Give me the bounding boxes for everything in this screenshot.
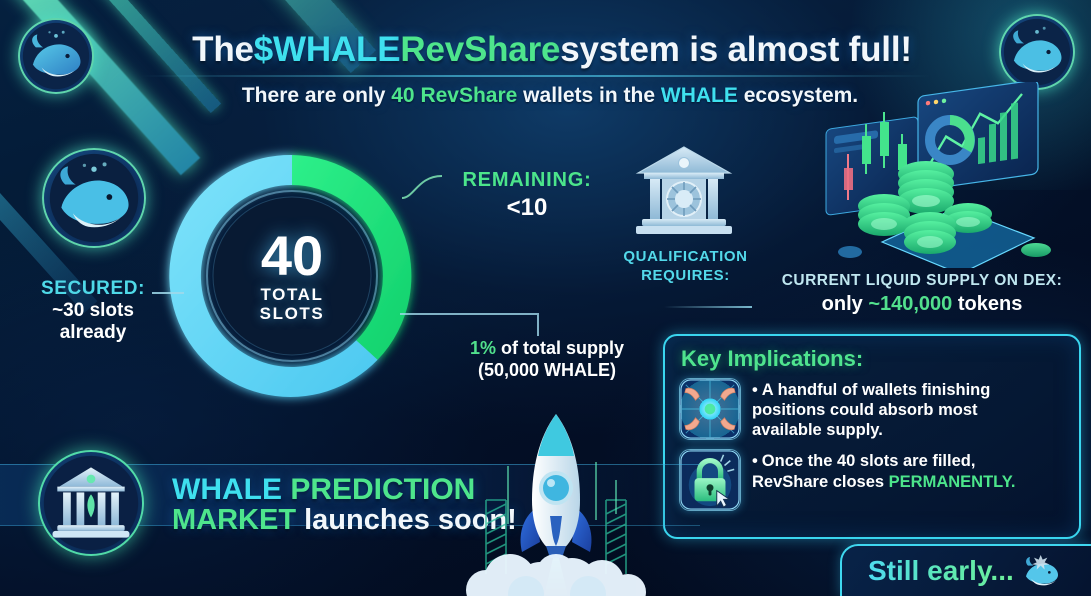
prediction-market-bank-icon: [38, 450, 144, 556]
supply-leader-line: [398, 300, 568, 342]
supply-callout: 1% of total supply (50,000 WHALE): [448, 338, 646, 381]
wpm-prediction: PREDICTION: [282, 473, 475, 506]
key-implication-text: •A handful of wallets finishing position…: [752, 378, 990, 440]
key-implications-panel: Key Implications:: [663, 334, 1081, 539]
still-early-badge: Still early...: [840, 544, 1091, 596]
supply-percent: 1%: [470, 338, 496, 358]
impl-line-1: A handful of wallets finishing: [762, 381, 991, 399]
liquid-prefix: only: [822, 293, 869, 315]
subtitle-part: wallets in the: [517, 84, 661, 107]
slots-donut-chart: 40 TOTAL SLOTS: [163, 133, 421, 419]
title-part-revshare: RevShare: [400, 30, 560, 70]
qualification-label: QUALIFICATION REQUIRES:: [608, 248, 763, 286]
whale-logo-icon: [1022, 551, 1062, 591]
hands-orb-icon: [679, 378, 741, 440]
bullet-glyph: •: [752, 381, 758, 399]
impl2-line-1: Once the 40 slots are filled,: [762, 452, 976, 470]
qualification-line1: QUALIFICATION: [608, 248, 763, 267]
wpm-whale: WHALE: [172, 473, 282, 506]
key-implication-item: •A handful of wallets finishing position…: [679, 378, 1065, 440]
title-part-token: $WHALE: [254, 30, 401, 70]
impl-line-2: positions could absorb most: [752, 401, 978, 419]
rocket-launch-illustration: [448, 404, 664, 596]
secured-callout: SECURED: ~30 slots already: [18, 278, 168, 344]
qualification-line2: REQUIRES:: [608, 267, 763, 286]
whale-logo-icon: [999, 14, 1075, 90]
page-title: The $WHALE RevShare system is almost ful…: [118, 22, 986, 78]
remaining-callout: REMAINING: <10: [432, 168, 622, 223]
secured-value-line2: already: [18, 322, 168, 344]
supply-line2: (50,000 WHALE): [448, 360, 646, 382]
title-part: system is almost full!: [560, 30, 912, 70]
still-early-text: Still early...: [868, 555, 1014, 587]
impl2-line-2: RevShare closes: [752, 473, 889, 491]
liquid-suffix: tokens: [952, 293, 1022, 315]
key-implication-text: •Once the 40 slots are filled, RevShare …: [752, 449, 1016, 491]
bullet-glyph: •: [752, 452, 758, 470]
subtitle-part-whale: WHALE: [661, 84, 738, 107]
liquid-amount: ~140,000: [868, 293, 952, 315]
key-implications-title: Key Implications:: [681, 346, 1065, 372]
remaining-value: <10: [432, 193, 622, 223]
subtitle-part: There are only: [242, 84, 391, 107]
title-part: The: [192, 30, 254, 70]
liquid-supply-value: only ~140,000 tokens: [757, 293, 1087, 316]
secured-value-line1: ~30 slots: [18, 300, 168, 322]
remaining-label: REMAINING:: [432, 168, 622, 193]
infographic-canvas: The $WHALE RevShare system is almost ful…: [0, 0, 1091, 596]
trading-dashboard-illustration: [822, 82, 1088, 268]
supply-line1: 1% of total supply: [448, 338, 646, 360]
key-implication-item: •Once the 40 slots are filled, RevShare …: [679, 449, 1065, 511]
supply-rest: of total supply: [496, 338, 624, 358]
whale-logo-icon: [42, 148, 146, 248]
liquid-supply-leader-line: [664, 306, 752, 308]
vault-bank-icon: [632, 143, 736, 243]
impl2-highlight: PERMANENTLY.: [889, 473, 1016, 491]
liquid-supply-label: CURRENT LIQUID SUPPLY ON DEX:: [757, 272, 1087, 290]
liquid-supply-callout: CURRENT LIQUID SUPPLY ON DEX: only ~140,…: [757, 272, 1087, 316]
secured-label: SECURED:: [18, 278, 168, 300]
impl-line-3: available supply.: [752, 421, 883, 439]
subtitle-part-count: 40 RevShare: [391, 84, 517, 107]
wpm-market: MARKET: [172, 504, 296, 536]
whale-logo-icon: [18, 18, 94, 94]
